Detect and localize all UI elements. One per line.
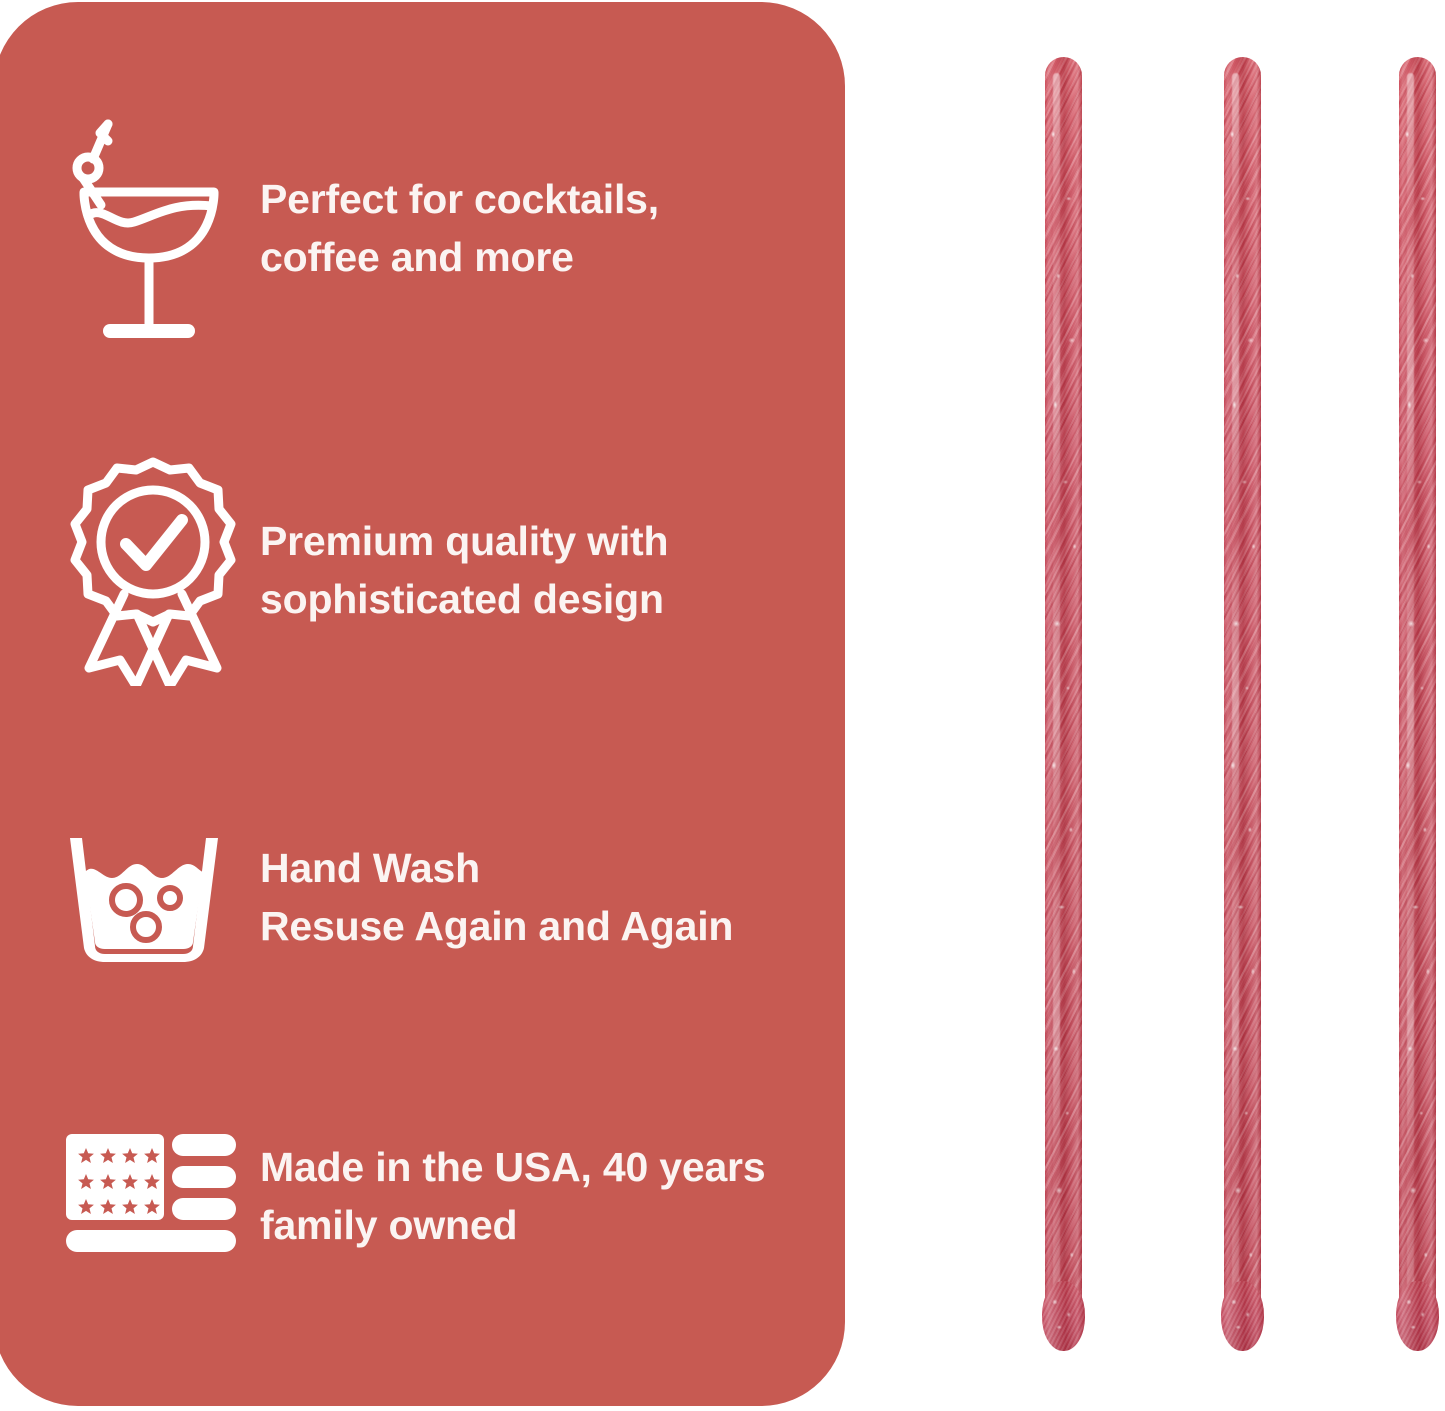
stir-stick xyxy=(1045,57,1082,1345)
feature-text: Premium quality with sophisticated desig… xyxy=(260,512,804,628)
feature-card: Perfect for cocktails, coffee and more xyxy=(0,2,845,1406)
stir-stick xyxy=(1399,57,1436,1345)
stir-sticks-group xyxy=(1020,0,1445,1411)
feature-row: Hand Wash Resuse Again and Again xyxy=(64,832,804,962)
feature-row: Perfect for cocktails, coffee and more xyxy=(64,110,804,346)
stir-stick-tip xyxy=(1042,1281,1085,1351)
stir-stick xyxy=(1224,57,1261,1345)
stir-stick-body xyxy=(1224,57,1261,1345)
cocktail-glass-icon xyxy=(64,110,260,346)
feature-text: Made in the USA, 40 years family owned xyxy=(260,1138,804,1254)
feature-row: Made in the USA, 40 years family owned xyxy=(64,1130,804,1262)
feature-list: Perfect for cocktails, coffee and more xyxy=(64,2,804,1406)
stir-stick-highlight xyxy=(1053,73,1060,1328)
usa-flag-icon xyxy=(64,1130,260,1262)
stir-stick-body xyxy=(1045,57,1082,1345)
stir-stick-highlight xyxy=(1407,73,1414,1328)
stir-stick-highlight xyxy=(1232,73,1239,1328)
product-infographic: Perfect for cocktails, coffee and more xyxy=(0,0,1445,1411)
feature-text: Hand Wash Resuse Again and Again xyxy=(260,839,804,955)
feature-text: Perfect for cocktails, coffee and more xyxy=(260,170,804,286)
stir-stick-tip xyxy=(1221,1281,1264,1351)
stir-stick-tip xyxy=(1396,1281,1439,1351)
quality-badge-check-icon xyxy=(64,454,260,686)
feature-row: Premium quality with sophisticated desig… xyxy=(64,454,804,686)
hand-wash-basin-icon xyxy=(64,832,260,962)
stir-stick-body xyxy=(1399,57,1436,1345)
